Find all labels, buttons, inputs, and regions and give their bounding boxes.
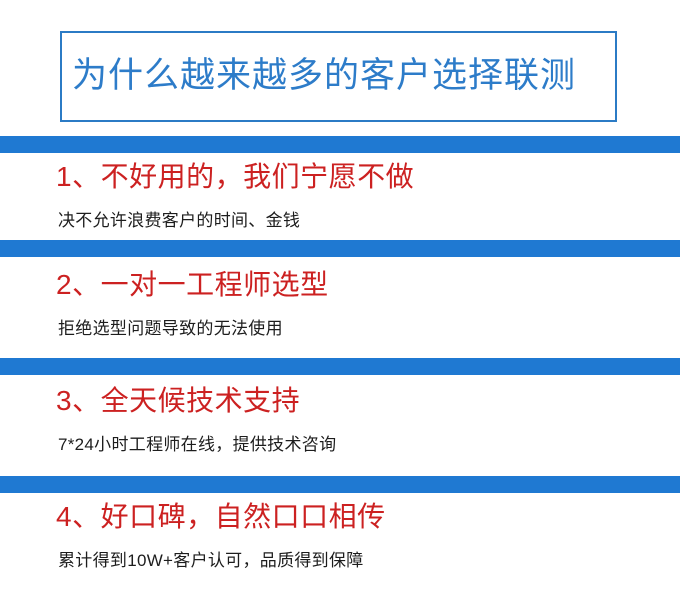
feature-item-4: 4、好口碑，自然口口相传 累计得到10W+客户认可，品质得到保障 [56,500,656,573]
feature-heading-2: 2、一对一工程师选型 [56,268,656,302]
feature-item-1: 1、不好用的，我们宁愿不做 决不允许浪费客户的时间、金钱 [56,160,656,233]
feature-item-3: 3、全天候技术支持 7*24小时工程师在线，提供技术咨询 [56,384,656,457]
feature-subtitle-2: 拒绝选型问题导致的无法使用 [56,302,656,341]
feature-subtitle-4: 累计得到10W+客户认可，品质得到保障 [56,534,656,573]
page-title-box: 为什么越来越多的客户选择联测 [60,31,617,122]
divider-bar-3 [0,358,680,375]
promo-page: 为什么越来越多的客户选择联测 1、不好用的，我们宁愿不做 决不允许浪费客户的时间… [0,0,680,598]
feature-heading-1: 1、不好用的，我们宁愿不做 [56,160,656,194]
feature-heading-3: 3、全天候技术支持 [56,384,656,418]
feature-subtitle-1: 决不允许浪费客户的时间、金钱 [56,194,656,233]
feature-subtitle-3: 7*24小时工程师在线，提供技术咨询 [56,418,656,457]
divider-bar-1 [0,136,680,153]
page-title: 为什么越来越多的客户选择联测 [62,57,576,96]
feature-heading-4: 4、好口碑，自然口口相传 [56,500,656,534]
feature-item-2: 2、一对一工程师选型 拒绝选型问题导致的无法使用 [56,268,656,341]
divider-bar-2 [0,240,680,257]
divider-bar-4 [0,476,680,493]
